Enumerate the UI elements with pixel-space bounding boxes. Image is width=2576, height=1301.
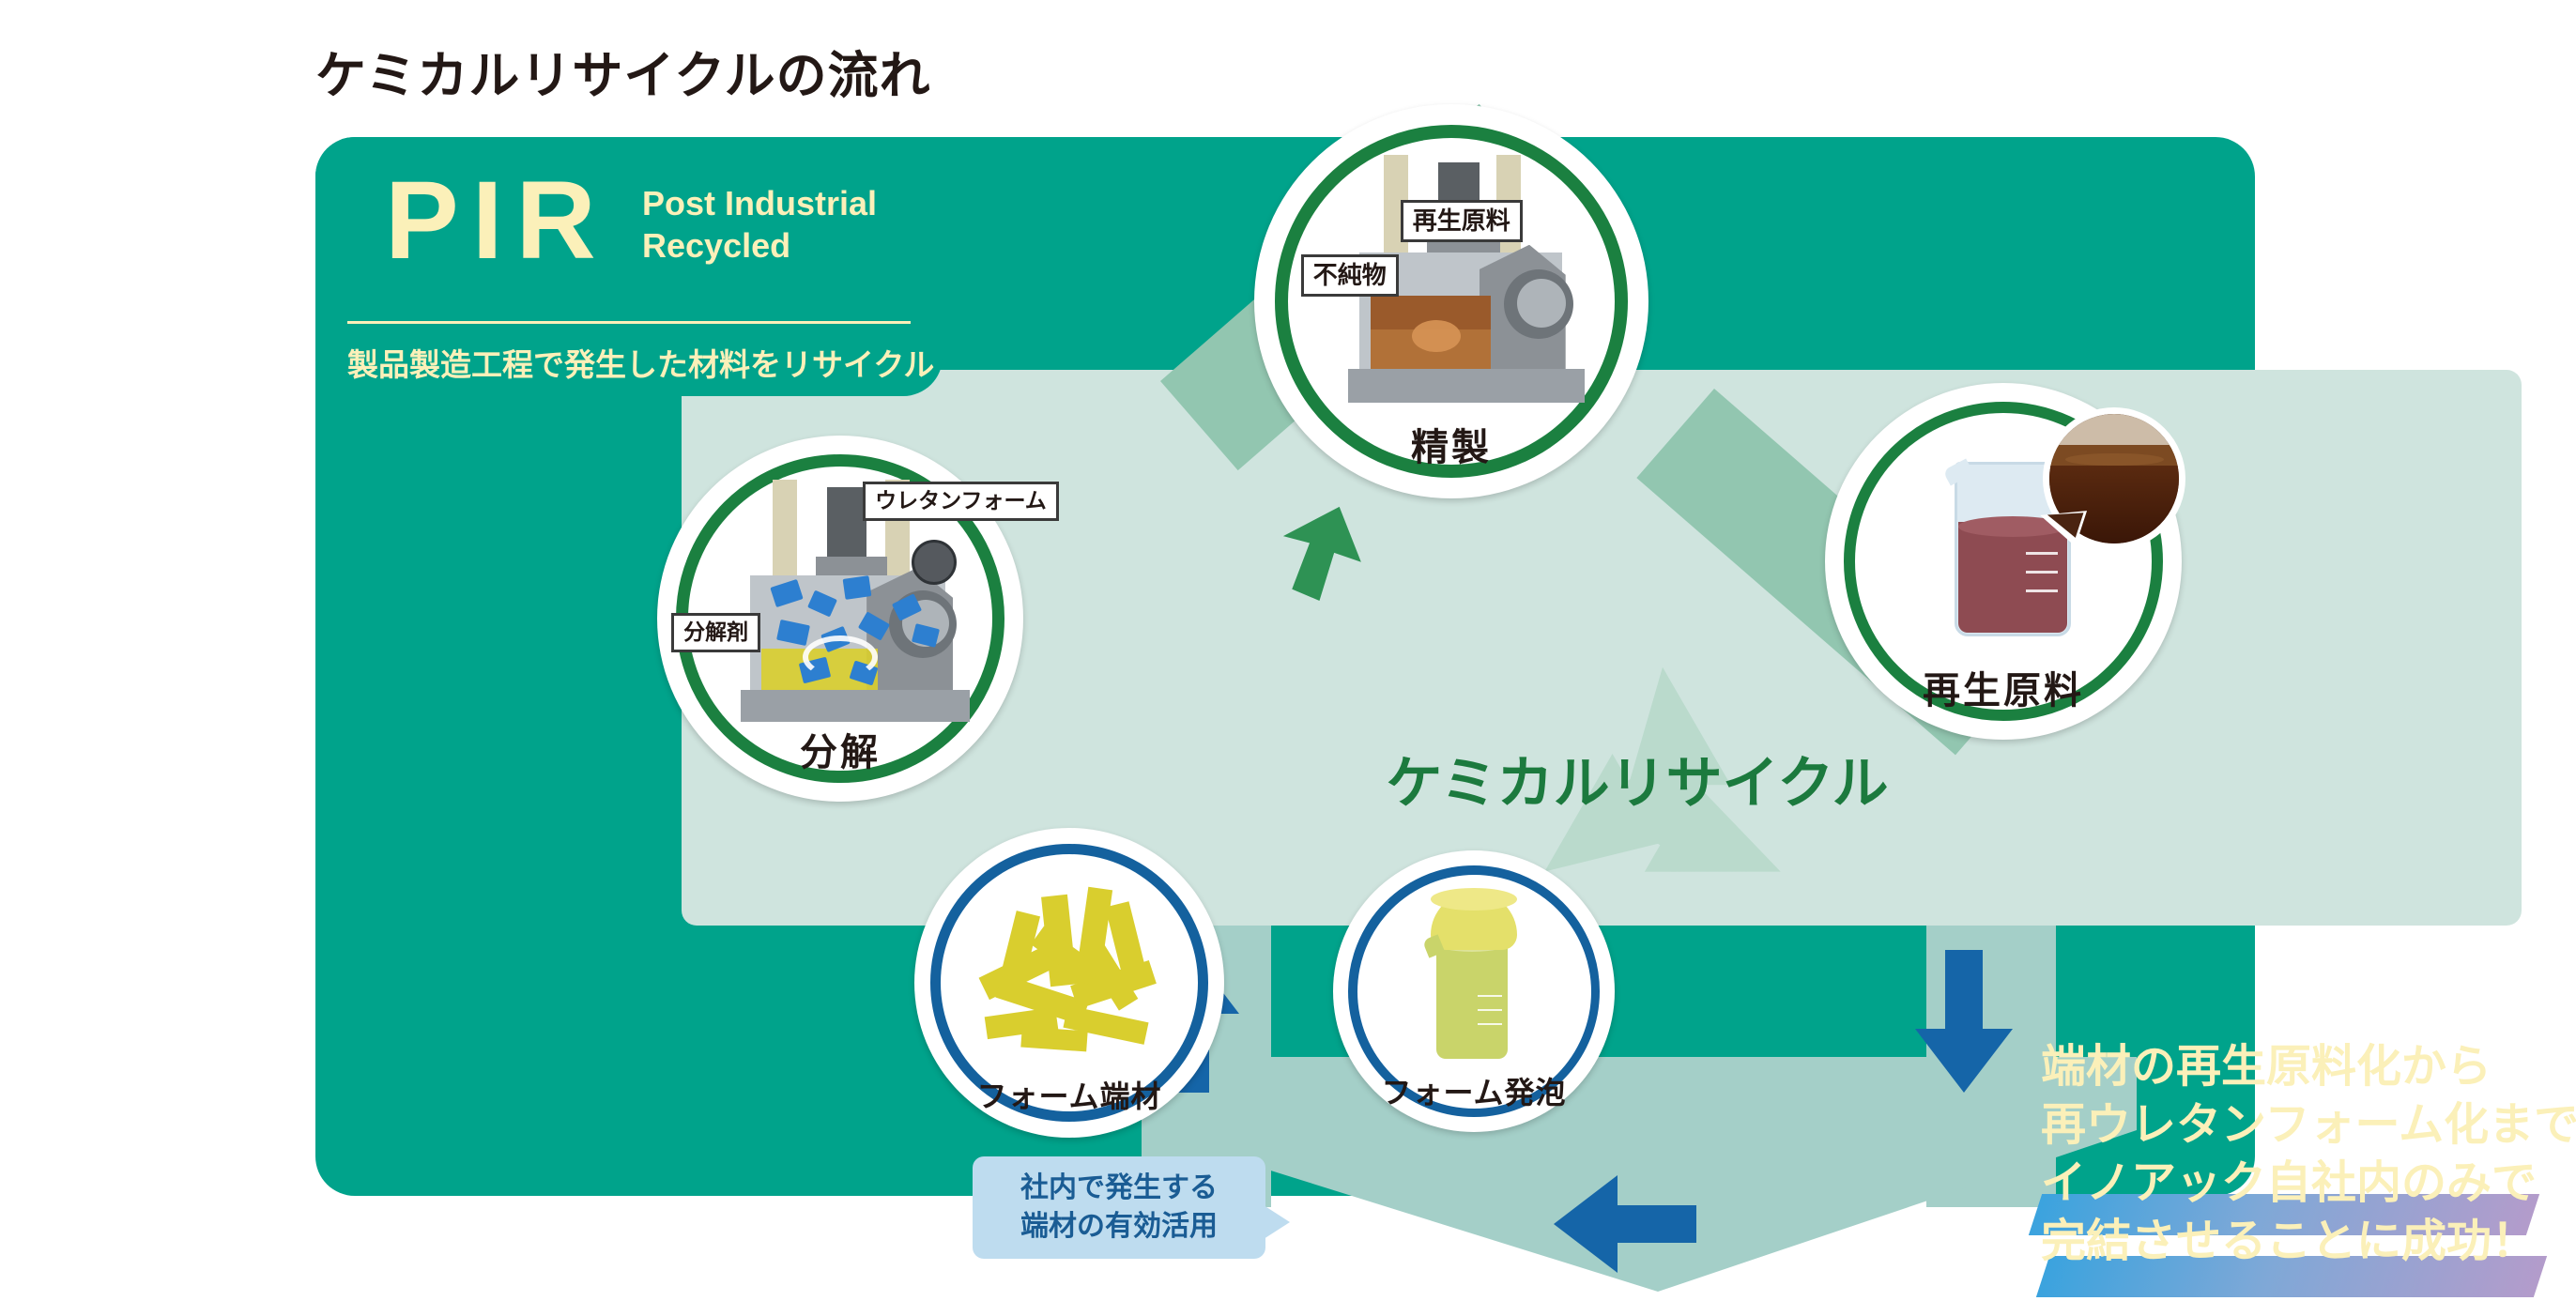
arrow-saisei-to-happo: [1908, 946, 2020, 1096]
center-caption: ケミカルリサイクル: [1327, 738, 1947, 819]
success-line-3: イノアック自社内のみで: [2041, 1155, 2576, 1213]
callout-fujunbutsu: 不純物: [1301, 254, 1399, 297]
urethane-foam-pellet: [912, 540, 957, 585]
callout-bunkaizai: 分解剤: [671, 613, 760, 652]
node-label-seisei: 精製: [1254, 417, 1648, 471]
process-node-bunkai[interactable]: ウレタンフォーム 分解剤 分解: [657, 436, 1023, 802]
node-label-foam-happo: フォーム発泡: [1333, 1069, 1615, 1112]
success-line-1: 端材の再生原料化から: [2041, 1038, 2576, 1096]
blue-callout-line1: 社内で発生する: [988, 1170, 1250, 1208]
blue-callout-hazai: 社内で発生する 端材の有効活用: [973, 1156, 1265, 1259]
pir-divider: [347, 321, 911, 324]
callout-urethane-foam: ウレタンフォーム: [863, 482, 1059, 521]
pir-acronym: PIR: [385, 165, 609, 276]
success-text-block: 端材の再生原料化から 再ウレタンフォーム化まで イノアック自社内のみで 完結させ…: [2041, 1038, 2576, 1271]
pir-caption: 製品製造工程で発生した材料をリサイクル: [347, 340, 934, 385]
blue-callout-tail: [1264, 1205, 1290, 1239]
pir-expansion-line1: Post Industrial: [642, 182, 877, 224]
node-label-bunkai: 分解: [657, 722, 1023, 776]
node-label-saisei-genryo: 再生原料: [1825, 660, 2182, 714]
blue-callout-line2: 端材の有効活用: [988, 1208, 1250, 1247]
process-node-foam-happo[interactable]: フォーム発泡: [1333, 850, 1615, 1132]
process-node-foam-hazai[interactable]: フォーム端材: [914, 828, 1224, 1138]
node-label-foam-hazai: フォーム端材: [914, 1073, 1224, 1116]
pir-expansion: Post Industrial Recycled: [642, 182, 877, 267]
success-line-2: 再ウレタンフォーム化まで: [2041, 1096, 2576, 1155]
page-title: ケミカルリサイクルの流れ: [315, 34, 931, 108]
process-node-saisei-genryo[interactable]: 再生原料: [1825, 383, 2182, 740]
process-node-seisei[interactable]: 再生原料 不純物 精製: [1254, 104, 1648, 498]
pir-expansion-line2: Recycled: [642, 224, 877, 267]
arrow-happo-to-hazai: [1545, 1168, 1705, 1280]
pir-badge: PIR Post Industrial Recycled 製品製造工程で発生した…: [315, 137, 943, 396]
success-line-4: 完結させることに成功！: [2041, 1213, 2576, 1271]
arrow-bunkai-to-seisei: [1264, 494, 1386, 616]
main-panel: ケミカルリサイクル: [315, 137, 2255, 1196]
callout-saisei-genryo: 再生原料: [1401, 200, 1523, 242]
